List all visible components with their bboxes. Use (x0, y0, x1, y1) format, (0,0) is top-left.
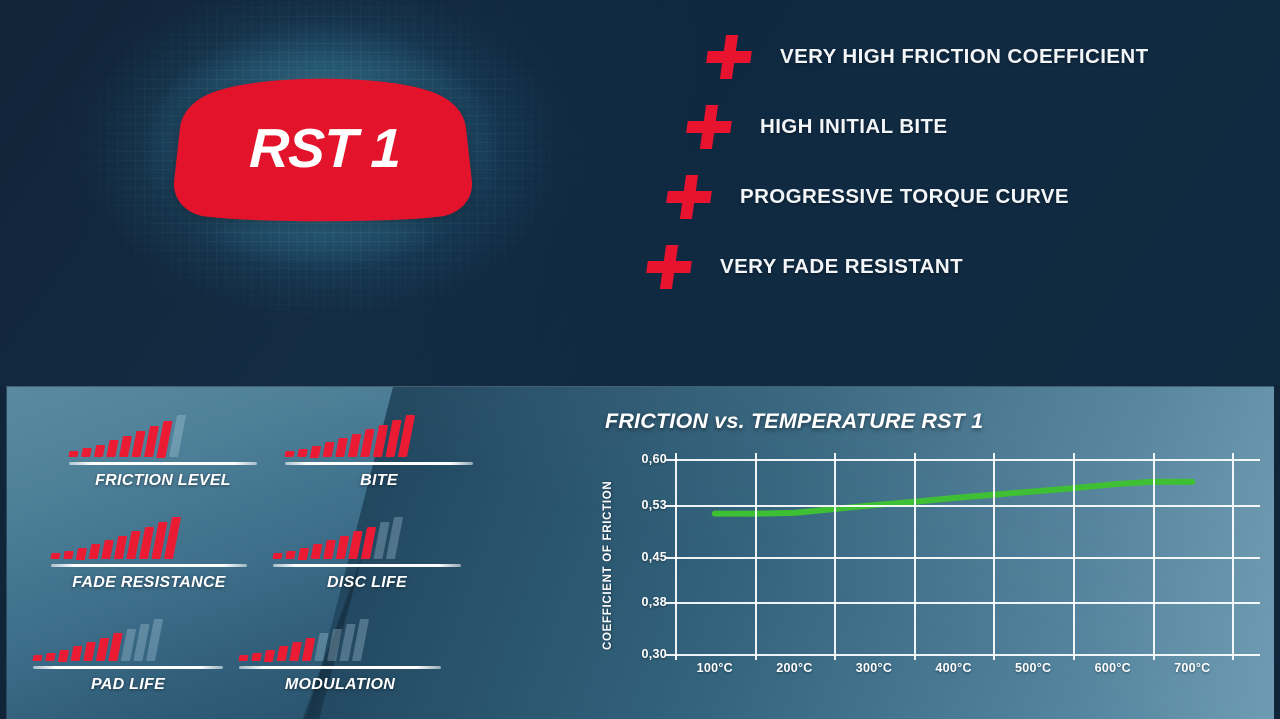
rating-bar-filled (58, 650, 69, 662)
rating-meter-disc-life: DISC LIFE (273, 517, 461, 592)
rating-bars (51, 517, 247, 559)
rating-bars (69, 415, 257, 457)
slide-root: RST 1 VERY HIGH FRICTION COEFFICIENT HIG… (0, 0, 1280, 719)
y-tick-label: 0,30 (641, 647, 667, 661)
logo-text: RST 1 (171, 72, 478, 224)
x-tick-label: 600°C (1095, 661, 1131, 675)
plus-icon (663, 174, 715, 220)
rating-bar-filled (32, 655, 42, 661)
rating-meter-fade-resistance: FADE RESISTANCE (51, 517, 247, 592)
rating-label: BITE (285, 472, 473, 490)
rating-bar-filled (94, 445, 105, 457)
x-tick-label: 200°C (776, 661, 812, 675)
rst1-logo: RST 1 (172, 70, 474, 222)
feature-label: VERY FADE RESISTANT (720, 255, 963, 279)
gridline-vertical (675, 453, 677, 660)
rating-bar-filled (302, 638, 316, 661)
x-tick-label: 400°C (935, 661, 971, 675)
rating-bar-filled (323, 442, 335, 457)
rating-bar-filled (335, 438, 348, 457)
plus-icon (643, 244, 695, 290)
plus-icon (703, 34, 755, 80)
rating-bar-filled (63, 551, 74, 559)
rating-label: DISC LIFE (273, 574, 461, 592)
rating-meter-bite: BITE (285, 415, 473, 490)
rating-bar-filled (131, 431, 145, 457)
rating-bar-filled (348, 531, 362, 559)
rating-bar-filled (126, 531, 140, 559)
rating-bar-filled (348, 434, 362, 457)
rating-bar-filled (238, 655, 248, 661)
rating-bar-empty (314, 633, 328, 661)
feature-label: VERY HIGH FRICTION COEFFICIENT (780, 45, 1149, 69)
rating-baseline (69, 462, 257, 465)
rating-baseline (33, 666, 223, 669)
rating-bar-filled (289, 642, 302, 661)
rating-bar-filled (96, 638, 110, 661)
plus-icon (683, 104, 735, 150)
y-tick-label: 0,45 (641, 550, 667, 564)
rating-label: MODULATION (239, 676, 441, 694)
rating-bar-filled (311, 544, 323, 559)
rating-bar-filled (71, 646, 83, 661)
rating-label: FADE RESISTANCE (51, 574, 247, 592)
rating-bar-filled (45, 653, 56, 661)
feature-item: HIGH INITIAL BITE (686, 104, 948, 150)
chart-y-tick-labels: 0,300,380,450,530,60 (611, 459, 667, 654)
gridline-vertical (834, 453, 836, 660)
rating-bars (273, 517, 461, 559)
x-tick-label: 100°C (697, 661, 733, 675)
feature-item: PROGRESSIVE TORQUE CURVE (666, 174, 1069, 220)
gridline-vertical (755, 453, 757, 660)
feature-label: HIGH INITIAL BITE (760, 115, 948, 139)
gridline-vertical (1232, 453, 1234, 660)
chart-plot-area (675, 459, 1260, 654)
rating-bar-filled (277, 646, 289, 661)
hero-section: RST 1 VERY HIGH FRICTION COEFFICIENT HIG… (0, 0, 1280, 386)
rating-bar-filled (76, 548, 87, 560)
feature-item: VERY HIGH FRICTION COEFFICIENT (706, 34, 1149, 80)
rating-bar-filled (83, 642, 96, 661)
rating-bar-filled (284, 451, 294, 457)
rating-baseline (239, 666, 441, 669)
rating-bar-filled (89, 544, 101, 559)
rating-label: FRICTION LEVEL (69, 472, 257, 490)
rating-meter-modulation: MODULATION (239, 619, 441, 694)
gridline-vertical (1153, 453, 1155, 660)
rating-baseline (273, 564, 461, 567)
rating-bar-filled (285, 551, 296, 559)
rating-bar-filled (50, 553, 60, 559)
rating-bar-filled (272, 553, 282, 559)
rating-bar-filled (264, 650, 275, 662)
rating-bar-filled (108, 633, 122, 661)
rating-bar-filled (68, 451, 78, 457)
rating-bar-filled (101, 540, 114, 559)
gridline-vertical (914, 453, 916, 660)
rating-label: PAD LIFE (33, 676, 223, 694)
rating-bar-filled (336, 536, 350, 559)
feature-list: VERY HIGH FRICTION COEFFICIENT HIGH INIT… (640, 14, 1260, 304)
y-tick-label: 0,53 (641, 498, 667, 512)
rating-bars (33, 619, 223, 661)
rating-bar-filled (360, 429, 374, 457)
chart-title: FRICTION vs. TEMPERATURE RST 1 (605, 409, 983, 434)
rating-bars (285, 415, 473, 457)
gridline-vertical (1073, 453, 1075, 660)
rating-bar-filled (298, 548, 309, 560)
rating-bar-filled (251, 653, 262, 661)
rating-bar-filled (297, 449, 308, 457)
rating-meter-pad-life: PAD LIFE (33, 619, 223, 694)
y-tick-label: 0,38 (641, 595, 667, 609)
gridline-vertical (993, 453, 995, 660)
rating-bar-filled (106, 440, 118, 457)
rating-baseline (285, 462, 473, 465)
y-tick-label: 0,60 (641, 452, 667, 466)
rating-baseline (51, 564, 247, 567)
rating-bar-filled (114, 536, 128, 559)
rating-meter-friction-level: FRICTION LEVEL (69, 415, 257, 490)
feature-item: VERY FADE RESISTANT (646, 244, 963, 290)
x-tick-label: 700°C (1174, 661, 1210, 675)
friction-temperature-chart: FRICTION vs. TEMPERATURE RST 1 COEFFICIE… (597, 409, 1267, 709)
bottom-panel: FRICTION LEVEL BITE FADE RESISTANCE DISC… (6, 386, 1274, 719)
feature-label: PROGRESSIVE TORQUE CURVE (740, 185, 1069, 209)
x-tick-label: 300°C (856, 661, 892, 675)
rating-bar-filled (119, 436, 132, 457)
chart-x-tick-labels: 100°C200°C300°C400°C500°C600°C700°C (675, 661, 1260, 683)
rating-bar-filled (81, 448, 92, 457)
rating-bars (239, 619, 441, 661)
x-tick-label: 500°C (1015, 661, 1051, 675)
rating-bar-filled (310, 446, 321, 458)
rating-bar-filled (323, 540, 336, 559)
